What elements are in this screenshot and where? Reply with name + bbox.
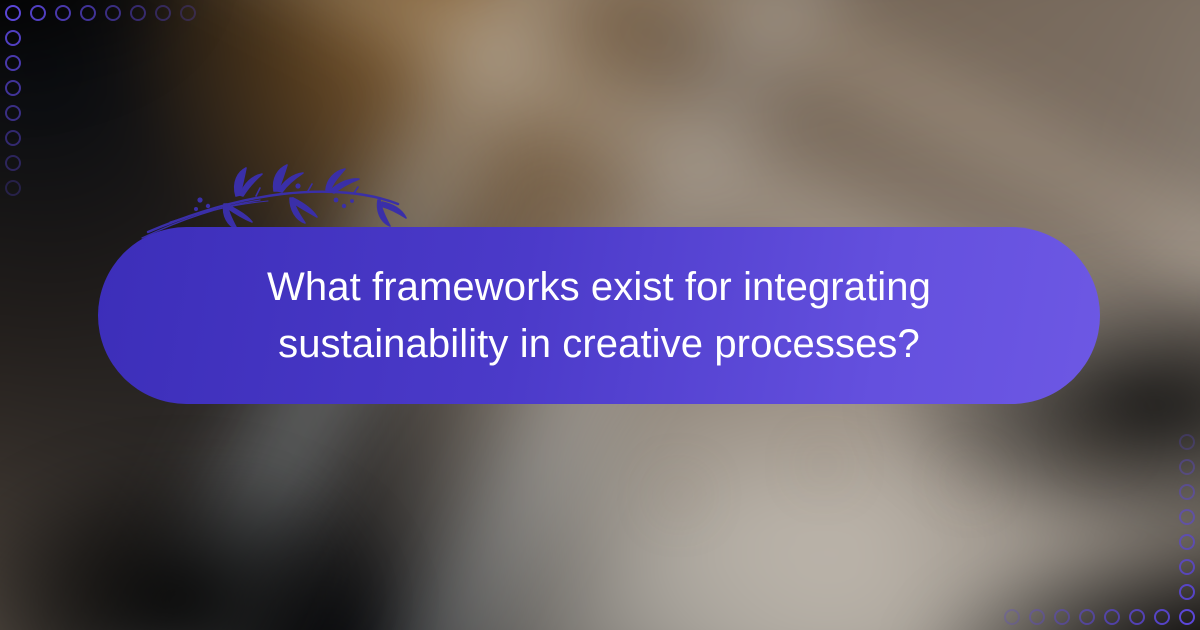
decorative-circle	[105, 5, 121, 21]
decorative-circle	[130, 5, 146, 21]
decorative-circle	[1154, 609, 1170, 625]
decorative-circle	[155, 5, 171, 21]
decorative-circle	[1179, 509, 1195, 525]
decorative-circle	[1179, 434, 1195, 450]
decorative-circle	[1129, 609, 1145, 625]
decorative-circle	[1179, 484, 1195, 500]
decorative-circle	[1079, 609, 1095, 625]
decorative-circle	[30, 5, 46, 21]
decorative-circle	[5, 55, 21, 71]
decorative-circle	[5, 130, 21, 146]
decorative-circle	[5, 180, 21, 196]
decorative-circle	[55, 5, 71, 21]
decorative-circle	[80, 5, 96, 21]
social-card: What frameworks exist for integrating su…	[0, 0, 1200, 630]
decorative-circle	[1179, 459, 1195, 475]
decorative-circle	[180, 5, 196, 21]
decorative-circle	[1004, 609, 1020, 625]
decorative-circle	[1054, 609, 1070, 625]
decorative-circle	[1179, 584, 1195, 600]
decorative-circle	[5, 80, 21, 96]
decorative-circle	[5, 30, 21, 46]
decorative-circle	[5, 155, 21, 171]
decorative-circle	[5, 5, 21, 21]
decorative-circle	[5, 105, 21, 121]
decorative-circle	[1179, 534, 1195, 550]
decorative-circle	[1029, 609, 1045, 625]
decorative-circle	[1179, 609, 1195, 625]
headline-pill: What frameworks exist for integrating su…	[98, 227, 1100, 404]
page-title: What frameworks exist for integrating su…	[249, 259, 949, 373]
decorative-circle	[1179, 559, 1195, 575]
decorative-circle	[1104, 609, 1120, 625]
